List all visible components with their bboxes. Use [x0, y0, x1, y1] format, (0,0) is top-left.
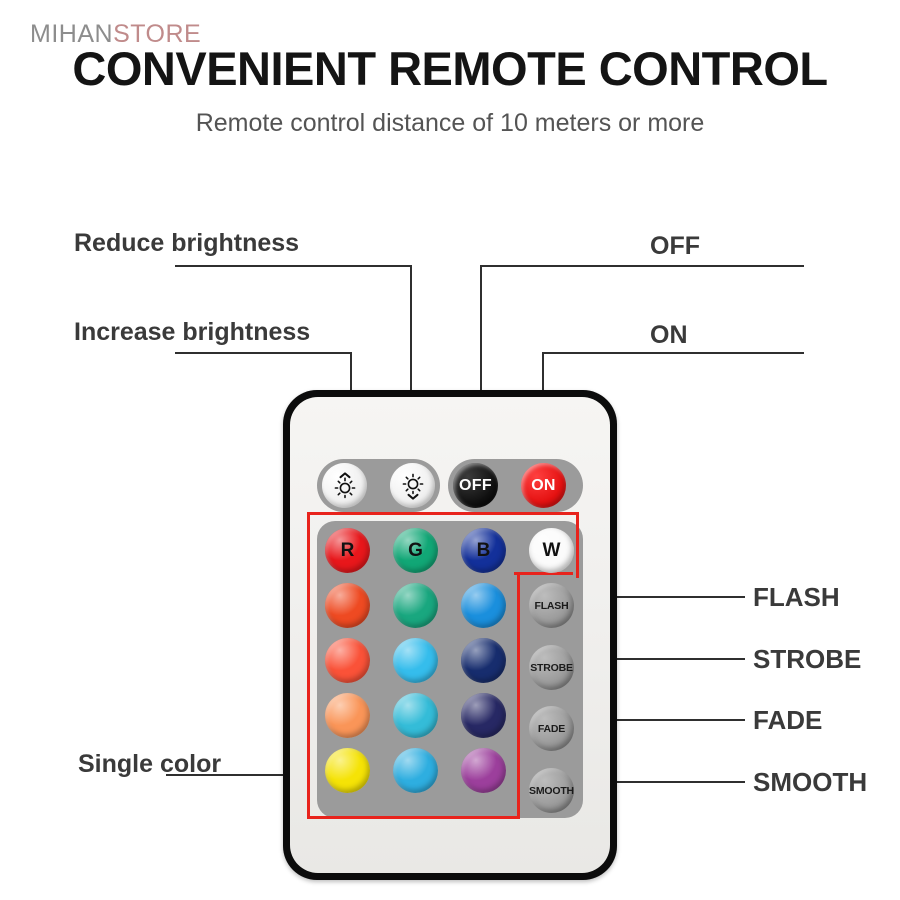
page-subtitle: Remote control distance of 10 meters or …: [0, 110, 900, 138]
callout-off: OFF: [650, 234, 700, 259]
off-button-label: OFF: [459, 477, 492, 495]
sun-down-icon: [398, 471, 428, 501]
function-button-smooth-label: SMOOTH: [529, 785, 574, 797]
color-button-g[interactable]: G: [393, 528, 438, 573]
callout-reduce-brightness: Reduce brightness: [74, 231, 299, 256]
increase-brightness-button[interactable]: [390, 463, 435, 508]
infographic-canvas: MIHANSTORE CONVENIENT REMOTE CONTROL Rem…: [0, 0, 900, 900]
color-button-g-label: G: [408, 540, 423, 562]
color-swatch-r1-c1[interactable]: [325, 583, 370, 628]
color-button-w-label: W: [543, 540, 561, 562]
on-button[interactable]: ON: [521, 463, 566, 508]
color-swatch-r4-c3[interactable]: [461, 748, 506, 793]
color-button-r-label: R: [341, 540, 355, 562]
callout-single-color: Single color: [78, 752, 221, 777]
callout-strobe: STROBE: [753, 646, 861, 672]
color-swatch-r2-c2[interactable]: [393, 638, 438, 683]
color-swatch-r4-c2[interactable]: [393, 748, 438, 793]
on-button-label: ON: [531, 477, 556, 495]
color-button-b[interactable]: B: [461, 528, 506, 573]
color-swatch-r3-c2[interactable]: [393, 693, 438, 738]
color-swatch-r4-c1[interactable]: [325, 748, 370, 793]
function-button-fade[interactable]: FADE: [529, 706, 574, 751]
color-swatch-r3-c1[interactable]: [325, 693, 370, 738]
remote-control-device: OFF ON RGBWFLASHSTROBEFADESMOOTH: [283, 390, 617, 880]
color-swatch-r1-c2[interactable]: [393, 583, 438, 628]
function-button-flash[interactable]: FLASH: [529, 583, 574, 628]
color-button-w[interactable]: W: [529, 528, 574, 573]
callout-on: ON: [650, 323, 688, 348]
color-swatch-r3-c3[interactable]: [461, 693, 506, 738]
sun-up-icon: [330, 471, 360, 501]
function-button-flash-label: FLASH: [535, 600, 569, 612]
function-button-smooth[interactable]: SMOOTH: [529, 768, 574, 813]
color-button-r[interactable]: R: [325, 528, 370, 573]
function-button-strobe[interactable]: STROBE: [529, 645, 574, 690]
color-button-b-label: B: [477, 540, 491, 562]
highlight-box-connector: [514, 572, 573, 575]
function-button-strobe-label: STROBE: [530, 662, 573, 674]
callout-smooth: SMOOTH: [753, 769, 867, 795]
color-swatch-r2-c1[interactable]: [325, 638, 370, 683]
top-button-pad: OFF ON: [317, 459, 583, 512]
remote-faceplate: OFF ON RGBWFLASHSTROBEFADESMOOTH: [290, 397, 610, 873]
callout-increase-brightness: Increase brightness: [74, 320, 310, 345]
callout-fade: FADE: [753, 707, 822, 733]
page-title: CONVENIENT REMOTE CONTROL: [0, 44, 900, 93]
off-button[interactable]: OFF: [453, 463, 498, 508]
reduce-brightness-button[interactable]: [322, 463, 367, 508]
color-swatch-r1-c3[interactable]: [461, 583, 506, 628]
callout-flash: FLASH: [753, 584, 840, 610]
color-swatch-r2-c3[interactable]: [461, 638, 506, 683]
function-button-fade-label: FADE: [538, 723, 565, 735]
